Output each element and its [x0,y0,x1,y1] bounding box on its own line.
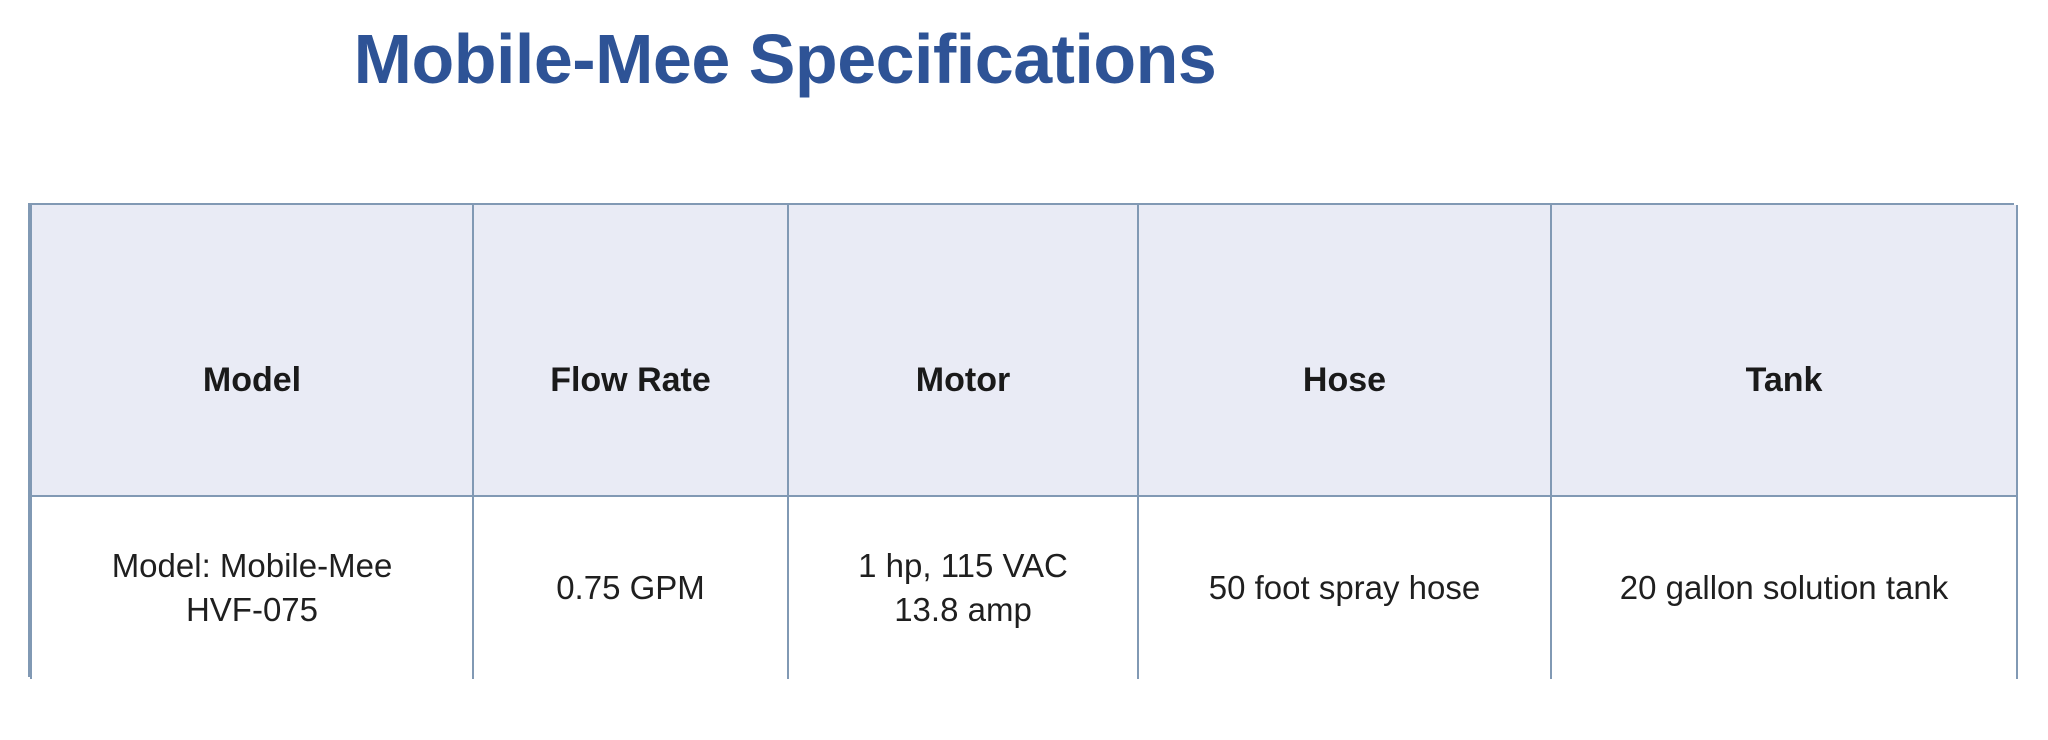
cell-tank-value: 20 gallon solution tank [1562,566,2006,610]
cell-flow-rate-value: 0.75 GPM [484,566,777,610]
column-header-flow-rate: Flow Rate [473,205,788,496]
cell-model-line-1: Model: Mobile-Mee [42,544,462,588]
cell-motor-line-2: 13.8 amp [799,588,1127,632]
cell-hose-value: 50 foot spray hose [1149,566,1540,610]
table-header: Model Flow Rate Motor Hose Tank [31,205,2017,496]
column-header-model: Model [31,205,473,496]
table-body: Model: Mobile-Mee HVF-075 0.75 GPM 1 hp,… [31,496,2017,679]
table-row: Model: Mobile-Mee HVF-075 0.75 GPM 1 hp,… [31,496,2017,679]
column-header-hose: Hose [1138,205,1551,496]
column-header-motor: Motor [788,205,1138,496]
cell-hose: 50 foot spray hose [1138,496,1551,679]
cell-motor: 1 hp, 115 VAC 13.8 amp [788,496,1138,679]
specs-table-element: Model Flow Rate Motor Hose Tank Model: M… [30,205,2018,679]
cell-model: Model: Mobile-Mee HVF-075 [31,496,473,679]
cell-motor-line-1: 1 hp, 115 VAC [799,544,1127,588]
cell-model-line-2: HVF-075 [42,588,462,632]
column-header-tank: Tank [1551,205,2017,496]
page-title: Mobile-Mee Specifications [0,14,1570,104]
table-header-row: Model Flow Rate Motor Hose Tank [31,205,2017,496]
cell-flow-rate: 0.75 GPM [473,496,788,679]
cell-tank: 20 gallon solution tank [1551,496,2017,679]
specifications-table: Model Flow Rate Motor Hose Tank Model: M… [28,203,2014,677]
specifications-page: Mobile-Mee Specifications Model Flow Rat… [0,0,2048,740]
